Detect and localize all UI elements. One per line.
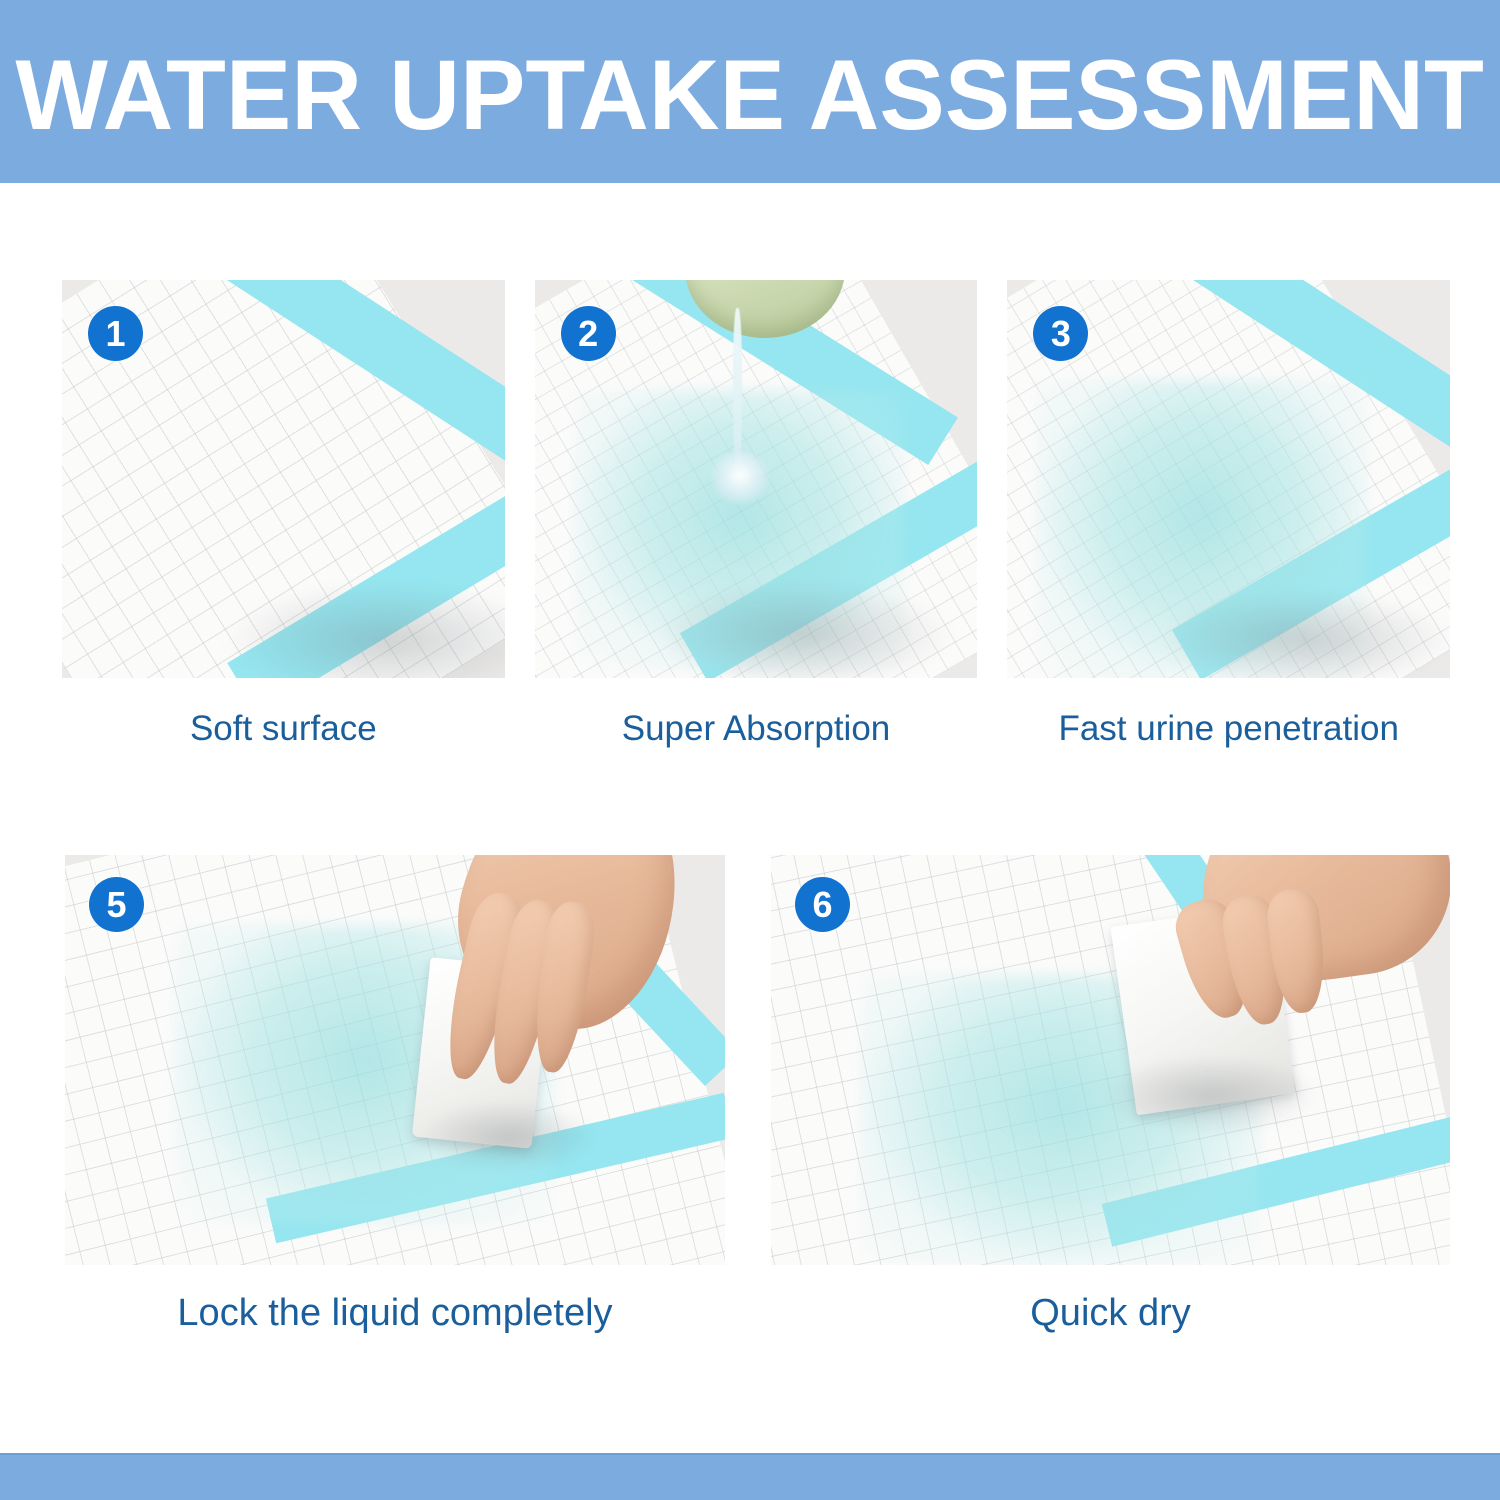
pad-illustration-6 bbox=[771, 855, 1450, 1265]
header-band: WATER UPTAKE ASSESSMENT bbox=[0, 0, 1500, 183]
step-photo-1: 1 bbox=[62, 280, 505, 678]
step-card-3[interactable]: 3 Fast urine penetration bbox=[1007, 280, 1450, 750]
step-card-5[interactable]: 5 Lock the liquid completely bbox=[65, 855, 725, 1337]
steps-row-2: 5 Lock the liquid completely 6 Quick d bbox=[65, 855, 1450, 1337]
pad-illustration-5 bbox=[65, 855, 725, 1265]
steps-row-1: 1 Soft surface 2 Super Absorption bbox=[62, 280, 1450, 750]
step-photo-5: 5 bbox=[65, 855, 725, 1265]
step-photo-6: 6 bbox=[771, 855, 1450, 1265]
step-badge-2: 2 bbox=[561, 306, 616, 361]
water-splash bbox=[711, 452, 769, 504]
step-badge-5: 5 bbox=[89, 877, 144, 932]
water-stream bbox=[733, 308, 742, 468]
step-photo-2: 2 bbox=[535, 280, 978, 678]
step-photo-3: 3 bbox=[1007, 280, 1450, 678]
step-card-1[interactable]: 1 Soft surface bbox=[62, 280, 505, 750]
footer-band bbox=[0, 1453, 1500, 1500]
step-caption-6: Quick dry bbox=[771, 1291, 1450, 1337]
step-caption-2: Super Absorption bbox=[535, 708, 978, 750]
page-title: WATER UPTAKE ASSESSMENT bbox=[16, 39, 1484, 144]
step-caption-5: Lock the liquid completely bbox=[65, 1291, 725, 1337]
step-badge-6: 6 bbox=[795, 877, 850, 932]
step-caption-1: Soft surface bbox=[62, 708, 505, 750]
step-card-2[interactable]: 2 Super Absorption bbox=[535, 280, 978, 750]
step-badge-3: 3 bbox=[1033, 306, 1088, 361]
step-caption-3: Fast urine penetration bbox=[1007, 708, 1450, 750]
step-card-6[interactable]: 6 Quick dry bbox=[771, 855, 1450, 1337]
step-badge-1: 1 bbox=[88, 306, 143, 361]
